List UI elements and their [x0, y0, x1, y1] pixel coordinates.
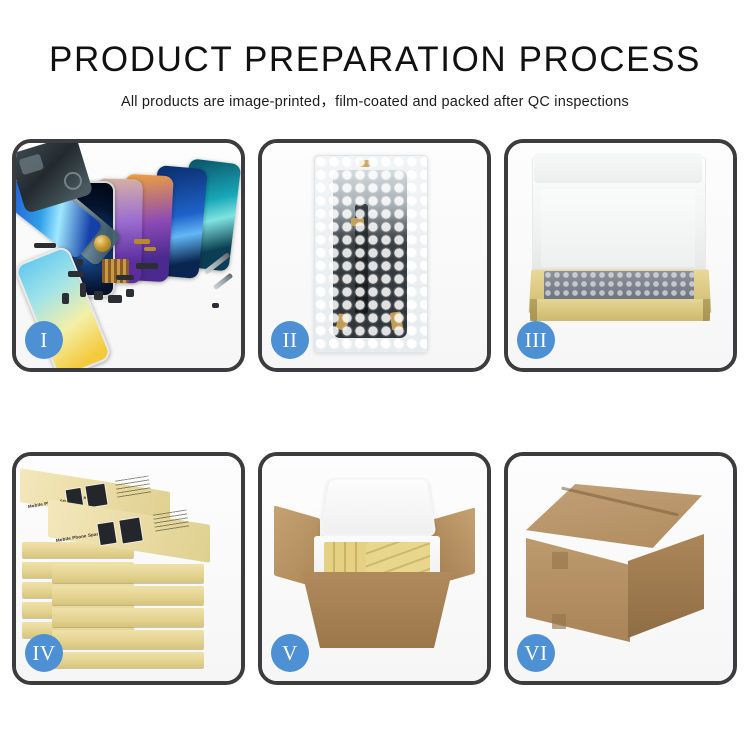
- step-panel-5: V: [258, 452, 491, 685]
- stacked-box-r2: [52, 586, 204, 605]
- sealed-carton-side: [628, 534, 704, 638]
- box-lid-fold: [534, 153, 702, 183]
- stacked-box-r3: [52, 608, 204, 627]
- sealed-carton-front: [526, 538, 630, 642]
- flex-cable-part-a: [68, 271, 84, 277]
- page-header: PRODUCT PREPARATION PROCESS All products…: [0, 0, 750, 111]
- stacked-box-r5: [52, 652, 204, 668]
- screwdriver-tool: [213, 273, 233, 290]
- step-badge-4: IV: [25, 634, 63, 672]
- stacked-box-r4: [52, 630, 204, 649]
- speaker-part: [34, 243, 56, 248]
- antenna-flex-part: [136, 263, 158, 269]
- bubble-wrap-bag: [314, 155, 428, 353]
- step-badge-5: V: [271, 634, 309, 672]
- page-subtitle: All products are image-printed，film-coat…: [0, 90, 750, 111]
- flex-cable-part-b: [80, 283, 86, 297]
- tray-edge-right: [703, 299, 710, 321]
- step-panel-6: VI: [504, 452, 737, 685]
- step-panel-1: I: [12, 139, 245, 372]
- button-part: [62, 293, 69, 304]
- sim-tray-part: [126, 289, 134, 297]
- foam-sheet: [541, 189, 695, 267]
- vibration-motor-part: [94, 235, 111, 252]
- screw-part-a: [76, 259, 83, 266]
- carton-tape-lower: [552, 614, 566, 629]
- box-tray-front: [530, 299, 710, 321]
- gold-bracket-part: [144, 247, 156, 251]
- screw-part-b: [212, 303, 219, 308]
- carton-body: [302, 572, 452, 648]
- step-panel-4: Mobile Phone Spare Parts Mobile Phone Sp…: [12, 452, 245, 685]
- bubble-wrapped-contents: [544, 271, 694, 301]
- step-badge-3: III: [517, 321, 555, 359]
- tape-bottom-right: [390, 311, 403, 330]
- page-title: PRODUCT PREPARATION PROCESS: [0, 42, 750, 79]
- step-panel-3: III: [504, 139, 737, 372]
- step-panel-2: II: [258, 139, 491, 372]
- stacked-box-r1: [52, 564, 204, 583]
- box-phone-image-2b: [118, 516, 144, 544]
- tray-edge-left: [530, 299, 537, 321]
- process-steps-grid: I II III: [12, 139, 738, 699]
- gold-connector-part: [134, 239, 150, 244]
- step-badge-6: VI: [517, 634, 555, 672]
- tape-middle: [351, 218, 364, 226]
- styrofoam-lid: [319, 478, 436, 537]
- ribbon-part: [116, 275, 134, 280]
- box-phone-image-2a: [96, 521, 117, 547]
- step-badge-2: II: [271, 321, 309, 359]
- carton-tape-upper: [552, 552, 568, 569]
- taptic-engine-part: [108, 295, 122, 303]
- tape-top: [359, 160, 370, 167]
- step-badge-1: I: [25, 321, 63, 359]
- camera-module-part: [94, 291, 103, 300]
